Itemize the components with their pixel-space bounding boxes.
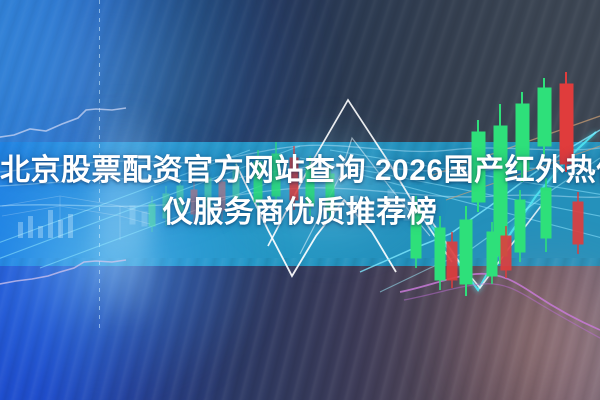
headline-line-2: 仪服务商优质推荐榜	[0, 192, 600, 234]
headline-block: 北京股票配资官方网站查询 2026国产红外热像 仪服务商优质推荐榜	[0, 150, 600, 234]
headline-line-1: 北京股票配资官方网站查询 2026国产红外热像	[0, 150, 600, 192]
polyline-magenta-ma	[400, 274, 600, 338]
stock-promo-banner: 北京股票配资官方网站查询 2026国产红外热像 仪服务商优质推荐榜	[0, 0, 600, 400]
